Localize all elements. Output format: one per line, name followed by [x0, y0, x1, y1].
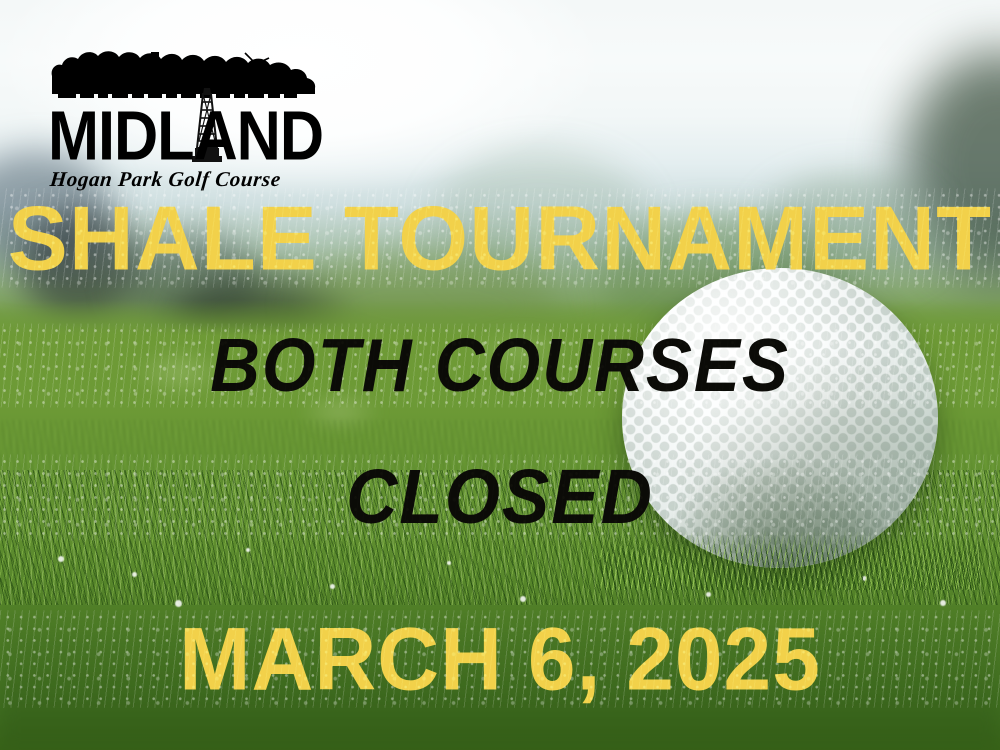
dew-drop — [520, 596, 526, 602]
headline-status: CLOSED — [0, 459, 1000, 536]
midland-hogan-park-logo: MIDLAND Hogan Park Golf Course — [48, 38, 323, 192]
dew-drop — [132, 572, 137, 577]
grass-in-front-of-ball — [600, 530, 980, 590]
logo-wordmark: MIDLAND — [48, 104, 329, 168]
headline-subtitle: BOTH COURSES — [0, 328, 1000, 403]
headline-date: MARCH 6, 2025 — [0, 614, 1000, 703]
dew-drop — [175, 600, 182, 607]
dew-drop — [706, 592, 711, 597]
dew-drop — [940, 600, 946, 606]
dew-drop — [246, 548, 250, 552]
dew-drop — [330, 584, 335, 589]
closure-notice-poster: MIDLAND Hogan Park Golf Course SHALE TOU… — [0, 0, 1000, 750]
dew-drop — [58, 556, 64, 562]
headline-title: SHALE TOURNAMENT — [0, 193, 1000, 284]
dew-drop — [447, 561, 451, 565]
